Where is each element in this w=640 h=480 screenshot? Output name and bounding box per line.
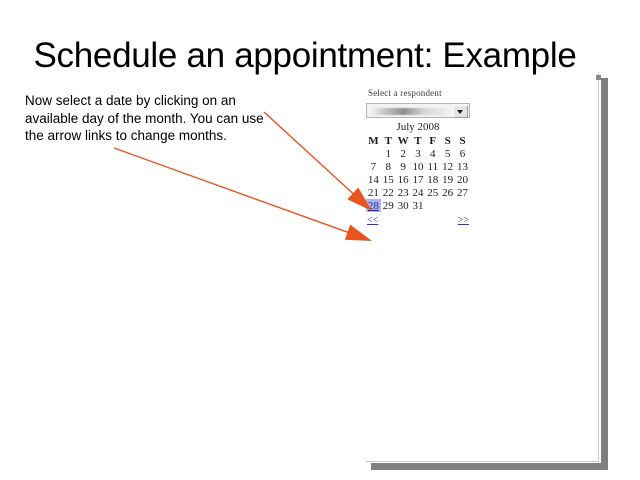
slide-shadow-bottom	[371, 463, 608, 470]
calendar-month-nav: << >>	[366, 215, 470, 228]
slide-border-bottom	[366, 461, 599, 462]
calendar-week-row: 28293031	[366, 199, 470, 212]
calendar-day[interactable]: 11	[425, 160, 440, 173]
slide-shadow-right	[601, 78, 608, 463]
respondent-select-dropdown-button[interactable]	[453, 105, 468, 118]
calendar-empty-cell	[455, 199, 470, 212]
calendar-day[interactable]: 22	[381, 186, 396, 199]
calendar-day[interactable]: 26	[440, 186, 455, 199]
calendar-week-row: 78910111213	[366, 160, 470, 173]
calendar-day[interactable]: 27	[455, 186, 470, 199]
weekday-header: T	[381, 134, 396, 147]
calendar-day-selected[interactable]: 28	[366, 199, 381, 212]
calendar-empty-cell	[425, 199, 440, 212]
weekday-header: S	[440, 134, 455, 147]
calendar-day[interactable]: 4	[425, 147, 440, 160]
calendar-day[interactable]: 20	[455, 173, 470, 186]
chevron-down-icon	[457, 110, 463, 114]
respondent-select[interactable]	[366, 103, 470, 118]
weekday-header: T	[411, 134, 426, 147]
calendar-day[interactable]: 30	[396, 199, 411, 212]
respondent-label: Select a respondent	[368, 88, 478, 98]
slide-border-right	[598, 72, 599, 463]
calendar-week-row: 21222324252627	[366, 186, 470, 199]
calendar-day[interactable]: 15	[381, 173, 396, 186]
arrow-to-selected-day-shaft	[264, 112, 356, 196]
title-underline-tick	[596, 75, 601, 80]
calendar-day[interactable]: 5	[440, 147, 455, 160]
calendar-day[interactable]: 16	[396, 173, 411, 186]
calendar-day[interactable]: 29	[381, 199, 396, 212]
weekday-header: M	[366, 134, 381, 147]
prev-month-link[interactable]: <<	[367, 215, 378, 226]
calendar-day[interactable]: 19	[440, 173, 455, 186]
calendar-day[interactable]: 12	[440, 160, 455, 173]
page-title: Schedule an appointment: Example	[0, 36, 610, 76]
calendar-weekday-row: M T W T F S S	[366, 134, 470, 147]
next-month-link[interactable]: >>	[458, 215, 469, 226]
calendar-week-row: 123456	[366, 147, 470, 160]
calendar-day[interactable]: 31	[411, 199, 426, 212]
weekday-header: S	[455, 134, 470, 147]
calendar-day[interactable]: 13	[455, 160, 470, 173]
calendar-day[interactable]: 10	[411, 160, 426, 173]
calendar-day[interactable]: 1	[381, 147, 396, 160]
calendar-day[interactable]: 25	[425, 186, 440, 199]
calendar-day[interactable]: 18	[425, 173, 440, 186]
calendar-day[interactable]: 2	[396, 147, 411, 160]
arrow-to-month-nav-links-shaft	[114, 148, 351, 234]
respondent-select-value	[371, 108, 449, 115]
calendar-month-label: July 2008	[366, 121, 470, 133]
calendar-day-link[interactable]: 28	[368, 200, 379, 212]
calendar-grid: M T W T F S S 12345678910111213141516171…	[366, 134, 470, 212]
calendar-day[interactable]: 17	[411, 173, 426, 186]
presentation-slide: Schedule an appointment: Example Now sel…	[0, 0, 640, 480]
weekday-header: F	[425, 134, 440, 147]
calendar-day[interactable]: 24	[411, 186, 426, 199]
calendar-day[interactable]: 3	[411, 147, 426, 160]
instruction-paragraph: Now select a date by clicking on an avai…	[25, 92, 270, 145]
calendar-day[interactable]: 14	[366, 173, 381, 186]
calendar-day[interactable]: 6	[455, 147, 470, 160]
calendar-week-row: 14151617181920	[366, 173, 470, 186]
calendar-day[interactable]: 23	[396, 186, 411, 199]
calendar-empty-cell	[440, 199, 455, 212]
calendar-day[interactable]: 8	[381, 160, 396, 173]
weekday-header: W	[396, 134, 411, 147]
calendar-widget: Select a respondent July 2008 M T W T F …	[366, 88, 478, 228]
calendar-day[interactable]: 7	[366, 160, 381, 173]
calendar-day[interactable]: 21	[366, 186, 381, 199]
calendar-day[interactable]: 9	[396, 160, 411, 173]
calendar-empty-cell	[366, 147, 381, 160]
